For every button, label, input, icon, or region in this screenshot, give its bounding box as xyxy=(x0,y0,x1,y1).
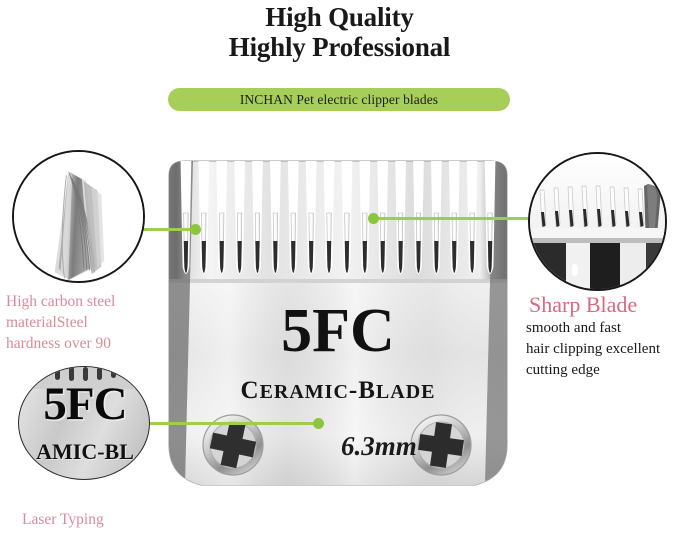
lead-dot-laser xyxy=(313,418,324,429)
callout-circle-sharp xyxy=(528,152,667,291)
callout-label-laser: Laser Typing xyxy=(22,509,104,530)
lead-dot-sharp xyxy=(368,213,379,224)
headline-secondary: Highly Professional xyxy=(0,32,679,62)
callout-text-sharp-line3: cutting edge xyxy=(526,360,678,381)
laser-zoom-subtitle: AMIC-BL xyxy=(19,439,150,465)
callout-title-sharp: Sharp Blade xyxy=(529,292,637,318)
laser-zoom-model: 5FC xyxy=(23,381,147,428)
callout-text-sharp-line1: smooth and fast xyxy=(526,318,678,339)
callout-text-steel-line1: High carbon steel xyxy=(6,291,171,312)
callout-text-steel: High carbon steel materialSteel hardness… xyxy=(6,291,171,354)
lead-line-sharp xyxy=(372,217,544,220)
headline-primary: High Quality xyxy=(0,2,679,32)
callout-text-steel-line2: materialSteel xyxy=(6,312,171,333)
brand-badge-label: INCHAN Pet electric clipper blades xyxy=(240,92,438,108)
poster-canvas: High Quality Highly Professional INCHAN … xyxy=(0,0,679,535)
callout-text-sharp: smooth and fast hair clipping excellent … xyxy=(526,318,678,381)
lead-dot-steel xyxy=(190,224,201,235)
clipper-blade-product-image: 5FC CERAMIC-BLADE 6.3mm xyxy=(163,155,513,493)
lead-line-laser xyxy=(140,422,320,425)
callout-text-sharp-line2: hair clipping excellent xyxy=(526,339,678,360)
svg-text:CERAMIC-BLADE: CERAMIC-BLADE xyxy=(241,377,436,404)
svg-text:6.3mm: 6.3mm xyxy=(341,431,417,461)
callout-text-steel-line3: hardness over 90 xyxy=(6,333,171,354)
svg-text:5FC: 5FC xyxy=(281,297,395,365)
callout-circle-laser: 5FC AMIC-BL xyxy=(18,366,150,480)
callout-circle-steel xyxy=(12,150,145,283)
brand-badge: INCHAN Pet electric clipper blades xyxy=(168,88,510,111)
